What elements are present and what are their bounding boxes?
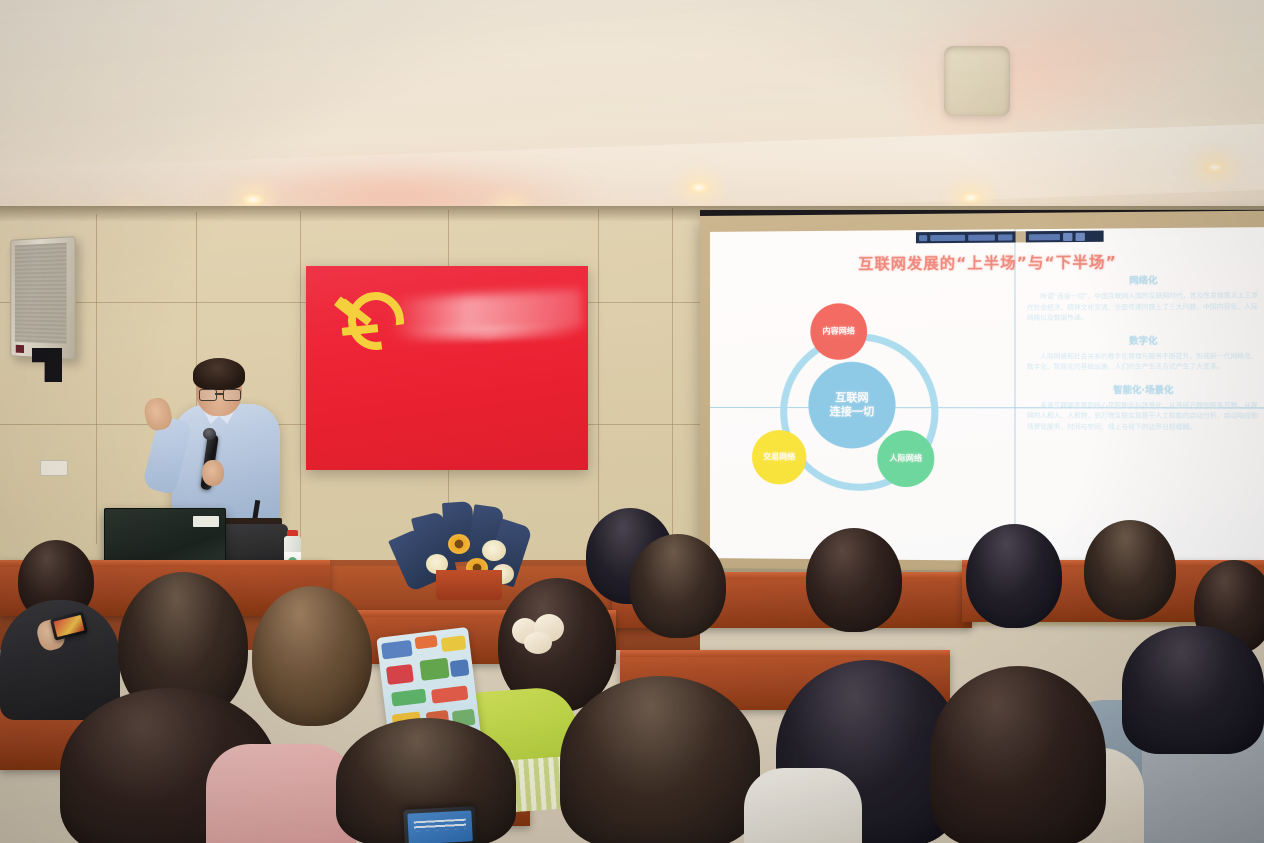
presentation-toolbar[interactable] (916, 231, 1104, 244)
sunflower-1 (448, 534, 470, 554)
wall-seam-1 (96, 214, 97, 544)
hammer-and-sickle-icon (332, 290, 392, 348)
toolbar-icon-circle[interactable] (1063, 232, 1072, 240)
attendee-head-4 (806, 528, 902, 632)
venn-node-transaction-network: 交易网络 (752, 430, 806, 484)
speaker-grill (15, 243, 67, 344)
attendee-head-3 (630, 534, 726, 638)
network-venn-diagram: 内容网络 交易网络 人际网络 互联网 连接一切 (756, 309, 949, 502)
smartphone-screen (53, 615, 84, 637)
slide-section-body-1: 所谓“连接一切”，中国互联网入围的互联网时代，普及性发展意义上三步代社会经济、精… (1027, 290, 1261, 323)
projected-slide: 互联网发展的“上半场”与“下半场” 内容网络 交易网络 人际网络 互联网 连接一… (710, 227, 1264, 563)
slide-section-body-2: 人际网络和社会关系的数字化管理与服务不断提升，形成新一代网络化、数字化、智能化的… (1027, 350, 1261, 372)
wall-mounted-device (944, 46, 1010, 116)
presenter-mic-hand (202, 460, 224, 486)
attendee-head-14 (930, 666, 1106, 843)
attendee-head-6 (1084, 520, 1176, 620)
slide-guide-vertical (1014, 229, 1015, 561)
slide-section-heading-3: 智能化·场景化 (1027, 382, 1261, 395)
wall-seam-3 (300, 211, 301, 561)
tablet-screen-text-lines (414, 819, 466, 832)
downlight-2 (240, 192, 266, 207)
cpc-flag (306, 266, 588, 470)
ceiling (0, 0, 1264, 232)
downlight-6 (1202, 160, 1228, 175)
bouquet-base (436, 570, 502, 600)
wall-socket (40, 460, 68, 476)
presenter-hair (193, 358, 245, 390)
attendee-head-12 (560, 676, 760, 843)
tablet-screen (407, 810, 473, 843)
slide-section-body-3: 未来互联网发展的核心是智能化与场景化，从连接万物到服务万物，从联网的人和人、人和… (1027, 400, 1261, 433)
attendee-head-5 (966, 524, 1062, 628)
wall-seam-5 (598, 209, 599, 559)
venn-center-line2: 连接一切 (830, 405, 875, 419)
venn-node-content-network: 内容网络 (810, 303, 867, 360)
venn-node-social-network: 人际网络 (877, 430, 934, 487)
speaker-badge (16, 345, 24, 353)
attendee-top-pink (206, 744, 356, 843)
attendee-head-16 (1122, 626, 1264, 754)
slide-section-heading-1: 网络化 (1027, 272, 1261, 287)
tablet-device[interactable] (403, 806, 477, 843)
hair-bow (512, 614, 566, 654)
presenter-glasses-icon (199, 389, 239, 399)
slide-text-column: 网络化 所谓“连接一切”，中国互联网入围的互联网时代，普及性发展意义上三步代社会… (1027, 262, 1261, 557)
venn-center-line1: 互联网 (830, 391, 875, 405)
lecture-hall-photo: 互联网发展的“上半场”与“下半场” 内容网络 交易网络 人际网络 互联网 连接一… (0, 0, 1264, 843)
attendee-top-white (744, 768, 862, 843)
downlight-4 (686, 180, 712, 195)
monitor-label-sticker (193, 516, 219, 527)
cream-flower-2 (482, 540, 506, 561)
slide-section-heading-2: 数字化 (1027, 333, 1261, 347)
downlight-5 (958, 190, 984, 205)
wall-speaker (10, 236, 75, 360)
attendee-head-9 (252, 586, 372, 726)
wall-seam-6 (672, 208, 673, 558)
venn-center-label: 互联网 连接一切 (808, 362, 895, 449)
toolbar-icon-pen[interactable] (1076, 232, 1085, 240)
projection-screen-frame: 互联网发展的“上半场”与“下半场” 内容网络 交易网络 人际网络 互联网 连接一… (700, 211, 1264, 574)
